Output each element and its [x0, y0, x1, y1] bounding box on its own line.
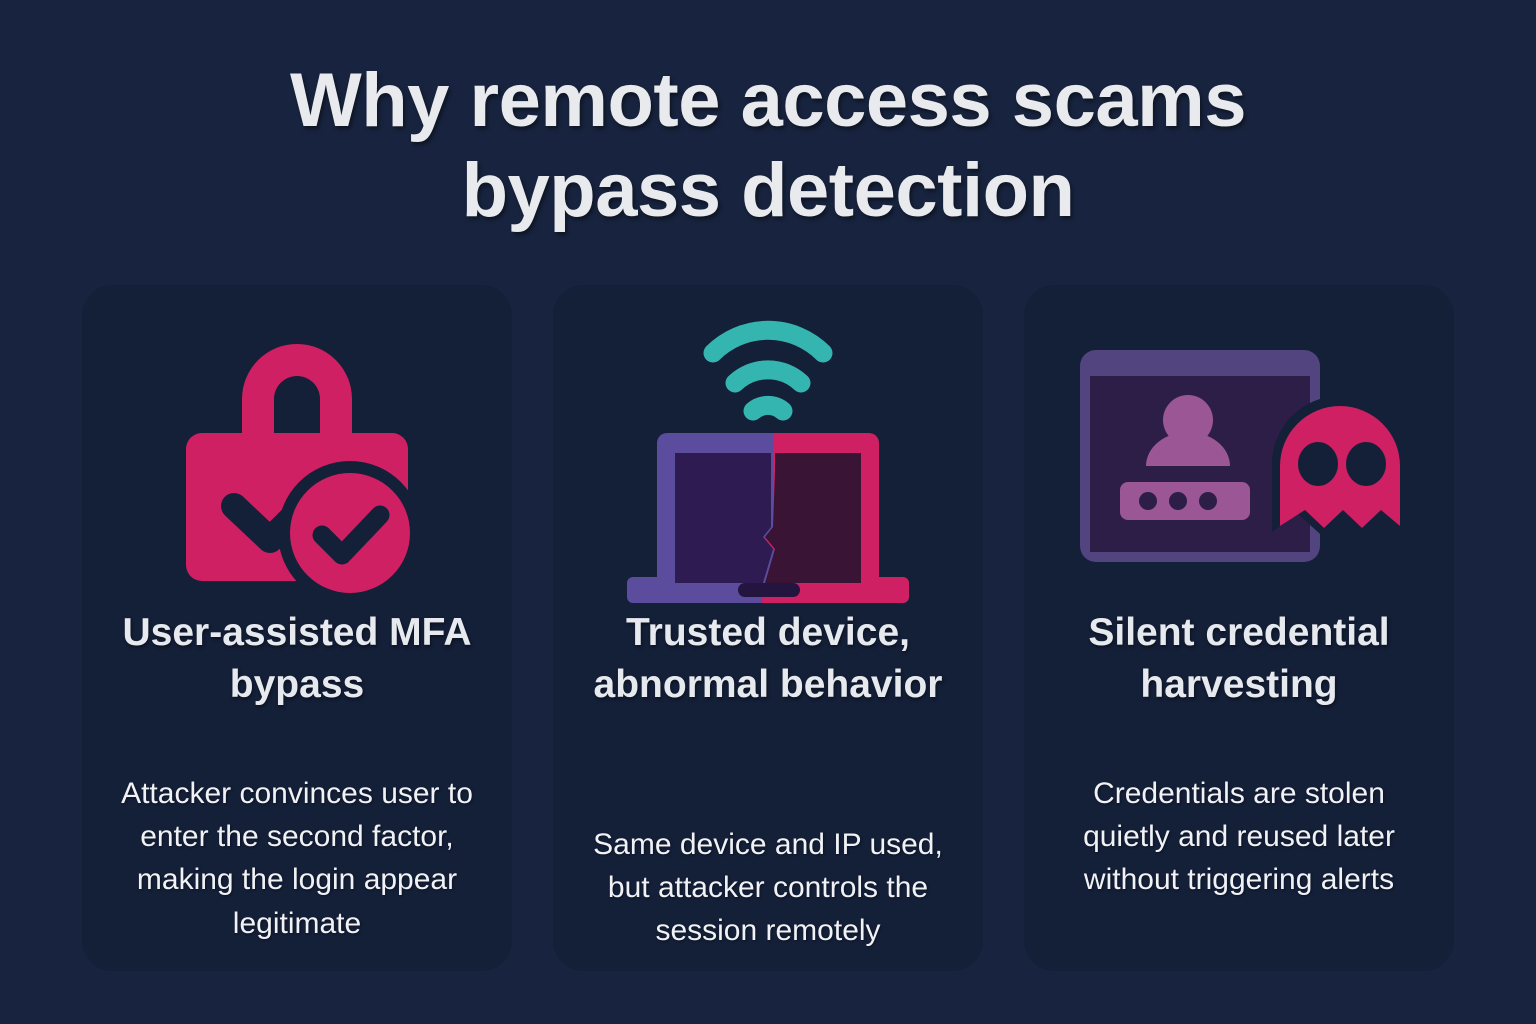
- card-user-assisted-mfa-bypass: User-assisted MFA bypass Attacker convin…: [82, 285, 512, 971]
- wifi-signal-icon: [713, 330, 823, 353]
- ghost-eye-icon: [1346, 442, 1386, 486]
- card-icon-container: [553, 303, 983, 608]
- card-silent-credential-harvesting: Silent credential harvesting Credentials…: [1024, 285, 1454, 971]
- card-trusted-device-abnormal-behavior: Trusted device, abnormal behavior Same d…: [553, 285, 983, 971]
- card-icon-container: [1024, 303, 1454, 608]
- card-body-text: Attacker convinces user to enter the sec…: [108, 772, 486, 945]
- cracked-laptop-wifi-icon: [613, 311, 923, 601]
- page-title: Why remote access scams bypass detection: [0, 56, 1536, 235]
- card-icon-container: [82, 303, 512, 608]
- page-title-line-1: Why remote access scams: [290, 58, 1246, 143]
- lock-check-icon: [172, 321, 422, 591]
- card-title: User-assisted MFA bypass: [104, 607, 490, 711]
- login-window-ghost-icon: [1074, 336, 1404, 576]
- card-title: Silent credential harvesting: [1046, 607, 1432, 711]
- infographic-canvas: Why remote access scams bypass detection…: [0, 0, 1536, 1024]
- password-dot-icon: [1169, 492, 1187, 510]
- card-title: Trusted device, abnormal behavior: [575, 607, 961, 711]
- ghost-eye-icon: [1298, 442, 1338, 486]
- page-title-line-2: bypass detection: [0, 146, 1536, 236]
- card-body-text: Same device and IP used, but attacker co…: [579, 823, 957, 953]
- password-dot-icon: [1199, 492, 1217, 510]
- password-dot-icon: [1139, 492, 1157, 510]
- card-body-text: Credentials are stolen quietly and reuse…: [1050, 772, 1428, 902]
